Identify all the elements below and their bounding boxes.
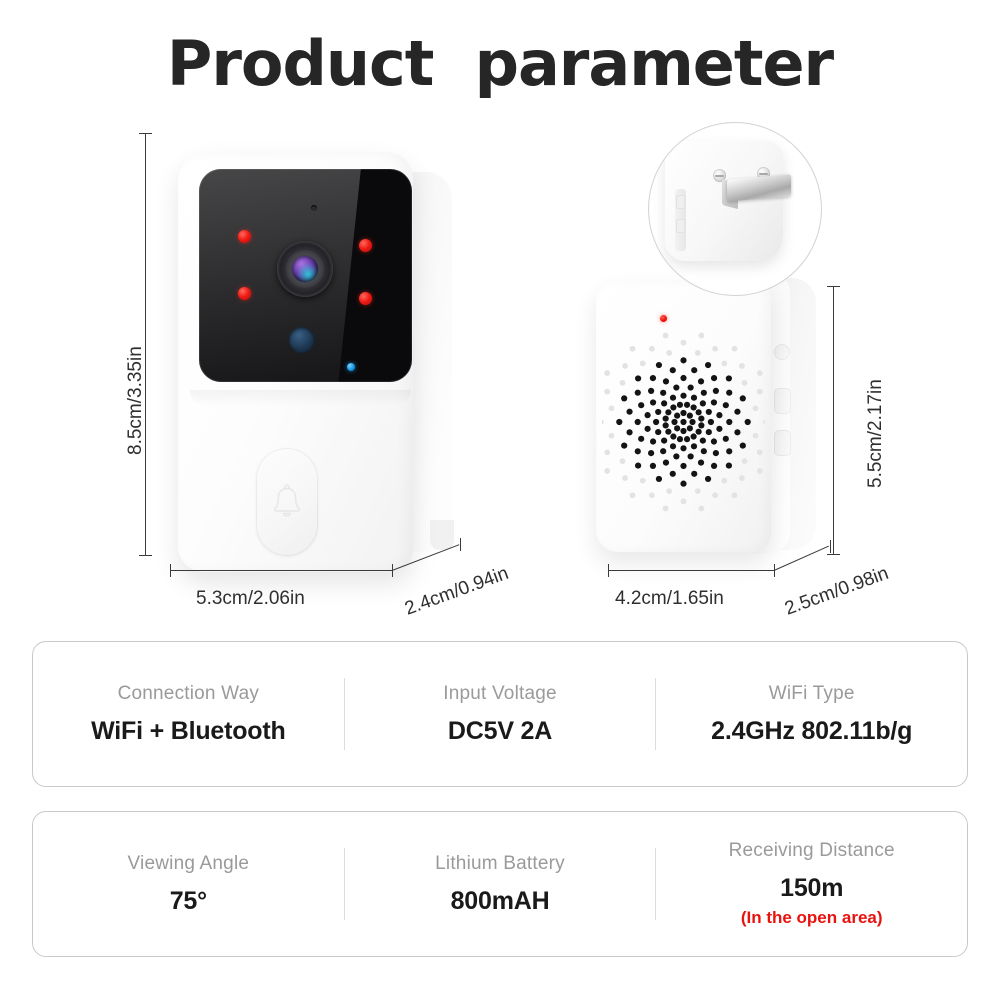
chime-depth-label: 2.5cm/0.98in (782, 563, 892, 621)
chime-volume-button[interactable] (774, 388, 791, 414)
spec-label: WiFi Type (769, 683, 855, 705)
spec-note: (In the open area) (741, 908, 883, 928)
doorbell-camera-faceplate (199, 169, 412, 382)
chime-height-dimension-line (833, 286, 834, 554)
spec-value: 150m (780, 874, 843, 903)
plug-side-tab (676, 219, 685, 233)
doorbell-panel-seam (190, 390, 411, 406)
spec-label: Connection Way (118, 683, 260, 705)
spec-cell-lithium-battery: Lithium Battery 800mAH (344, 848, 656, 920)
spec-card-row-2: Viewing Angle 75° Lithium Battery 800mAH… (32, 811, 968, 957)
bell-icon (269, 482, 305, 522)
spec-cell-wifi-type: WiFi Type 2.4GHz 802.11b/g (655, 678, 967, 750)
chime-height-label: 5.5cm/2.17in (865, 379, 887, 488)
spec-label: Input Voltage (443, 683, 557, 705)
doorbell-body (178, 152, 413, 572)
dimension-cap (460, 538, 461, 551)
dimension-cap (827, 286, 840, 287)
chime-width-dimension-line (608, 570, 774, 571)
dimension-cap (139, 133, 152, 134)
doorbell-width-label: 5.3cm/2.06in (196, 588, 305, 610)
spec-label: Viewing Angle (128, 853, 250, 875)
doorbell-height-dimension-line (145, 133, 146, 555)
chime-plug-housing (665, 141, 783, 261)
product-illustration: 8.5cm/3.35in 5.3cm/2.06in 2.4cm/0.94in 5… (0, 100, 1000, 630)
doorbell-depth-label: 2.4cm/0.94in (402, 563, 512, 621)
plug-side-tab (676, 195, 685, 209)
chime-knob[interactable] (774, 344, 790, 360)
video-doorbell-product-image (168, 120, 458, 570)
faceplate-bevel (199, 169, 412, 382)
dimension-cap (170, 564, 171, 577)
spec-value: WiFi + Bluetooth (91, 717, 285, 746)
page-title: Product parameter (0, 27, 1000, 100)
spec-value: 75° (170, 887, 207, 916)
dimension-cap (608, 564, 609, 577)
spec-value: DC5V 2A (448, 717, 552, 746)
chime-width-label: 4.2cm/1.65in (615, 588, 724, 610)
spec-cell-viewing-angle: Viewing Angle 75° (33, 848, 344, 920)
spec-row: Viewing Angle 75° Lithium Battery 800mAH… (33, 812, 967, 956)
spec-label: Receiving Distance (729, 840, 895, 862)
chime-body (596, 280, 771, 552)
chime-melody-button[interactable] (774, 430, 791, 456)
chime-power-led-icon (660, 315, 667, 322)
doorbell-bottom-notch (430, 520, 454, 550)
spec-cell-input-voltage: Input Voltage DC5V 2A (344, 678, 656, 750)
spec-cell-receiving-distance: Receiving Distance 150m (In the open are… (655, 848, 967, 920)
doorbell-push-button[interactable] (256, 448, 318, 556)
plug-detail-inset (648, 122, 822, 296)
dimension-cap (827, 554, 840, 555)
speaker-grille (602, 332, 765, 512)
spec-value: 2.4GHz 802.11b/g (711, 717, 912, 746)
doorbell-height-label: 8.5cm/3.35in (125, 346, 147, 455)
spec-cell-connection-way: Connection Way WiFi + Bluetooth (33, 678, 344, 750)
doorbell-width-dimension-line (170, 570, 392, 571)
spec-label: Lithium Battery (435, 853, 565, 875)
plug-prong-icon (727, 174, 791, 202)
dimension-cap (830, 540, 831, 553)
spec-value: 800mAH (451, 887, 550, 916)
spec-card-row-1: Connection Way WiFi + Bluetooth Input Vo… (32, 641, 968, 787)
wireless-chime-product-image (596, 270, 846, 570)
dimension-cap (139, 555, 152, 556)
spec-row: Connection Way WiFi + Bluetooth Input Vo… (33, 642, 967, 786)
